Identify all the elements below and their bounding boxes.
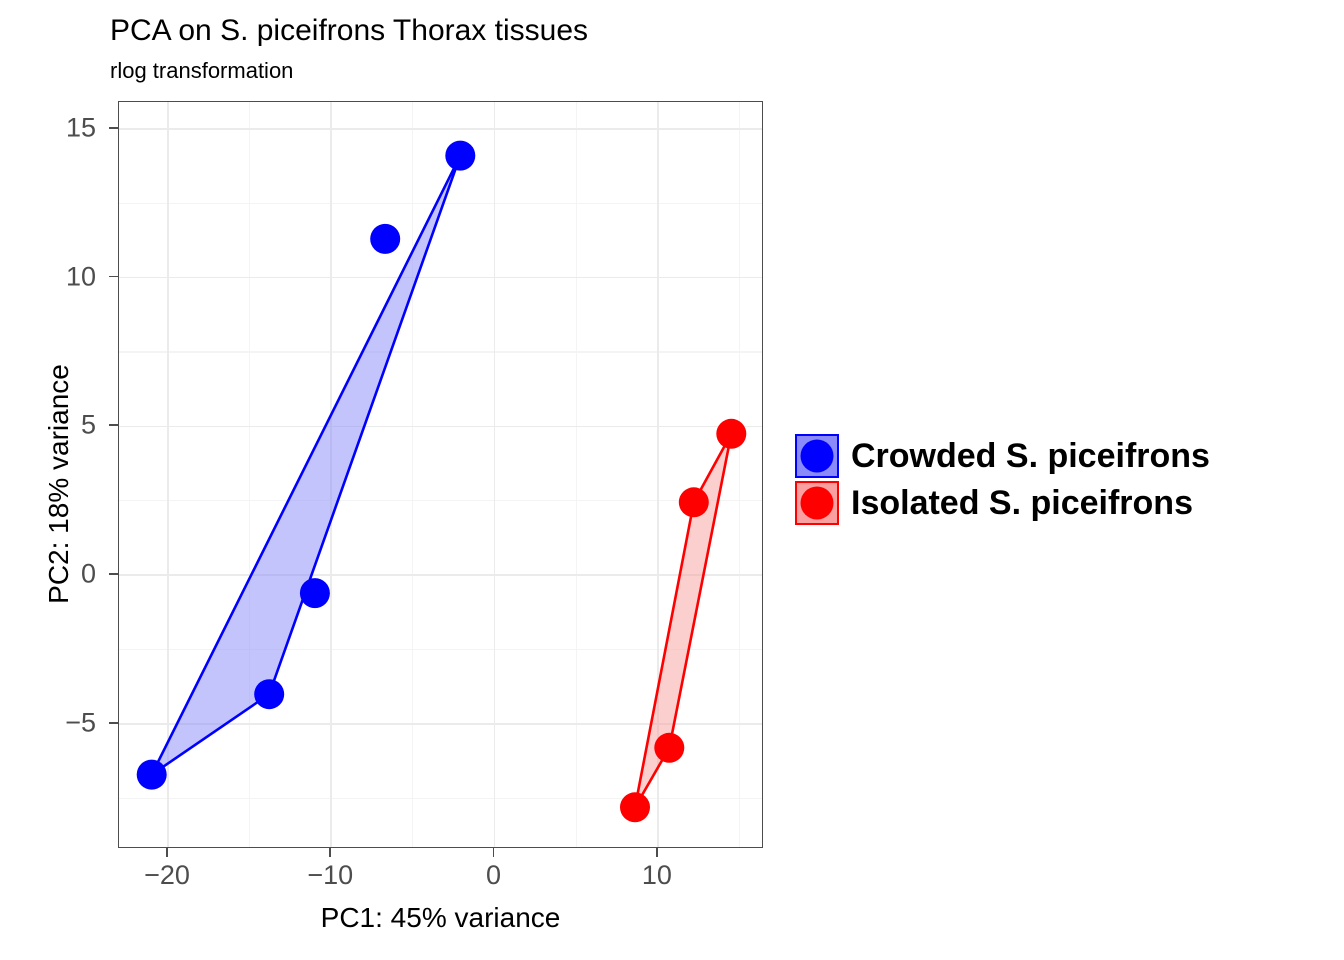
x-axis-tick-label: 10	[642, 860, 672, 891]
plot-panel	[118, 101, 763, 848]
data-point[interactable]	[254, 679, 284, 709]
x-axis-tick-label: −20	[144, 860, 190, 891]
data-point[interactable]	[716, 419, 746, 449]
legend-item[interactable]: Crowded S. piceifrons	[795, 432, 1210, 479]
data-point[interactable]	[445, 141, 475, 171]
x-axis-tick	[656, 848, 658, 857]
legend: Crowded S. piceifronsIsolated S. piceifr…	[795, 432, 1210, 526]
legend-key-swatch	[795, 481, 839, 525]
data-point[interactable]	[300, 578, 330, 608]
hull-polygon	[152, 156, 461, 775]
y-axis-tick	[109, 573, 118, 575]
chart-root: PCA on S. piceifrons Thorax tissues rlog…	[0, 0, 1344, 960]
x-axis-tick-label: 0	[486, 860, 501, 891]
y-axis-tick-label: −5	[0, 708, 96, 739]
legend-item-label: Crowded S. piceifrons	[851, 439, 1210, 473]
legend-key-swatch	[795, 434, 839, 478]
data-point[interactable]	[137, 760, 167, 790]
y-axis-tick	[109, 424, 118, 426]
y-axis-tick	[109, 127, 118, 129]
chart-title: PCA on S. piceifrons Thorax tissues	[110, 14, 588, 48]
legend-key-dot-icon	[801, 439, 834, 472]
data-point[interactable]	[679, 487, 709, 517]
x-axis-tick	[329, 848, 331, 857]
y-axis-tick-label: 5	[0, 410, 96, 441]
data-point[interactable]	[620, 792, 650, 822]
y-axis-tick-label: 10	[0, 261, 96, 292]
y-axis-tick-label: 15	[0, 112, 96, 143]
chart-subtitle: rlog transformation	[110, 58, 293, 84]
legend-item[interactable]: Isolated S. piceifrons	[795, 479, 1210, 526]
legend-item-label: Isolated S. piceifrons	[851, 486, 1193, 520]
y-axis-tick-label: 0	[0, 559, 96, 590]
legend-key-dot-icon	[801, 486, 834, 519]
x-axis-tick	[493, 848, 495, 857]
x-axis-label: PC1: 45% variance	[118, 902, 763, 934]
y-axis-tick	[109, 722, 118, 724]
data-point[interactable]	[370, 224, 400, 254]
x-axis-tick	[166, 848, 168, 857]
data-point[interactable]	[654, 733, 684, 763]
data-layer	[119, 102, 763, 848]
x-axis-tick-label: −10	[307, 860, 353, 891]
y-axis-label: PC2: 18% variance	[43, 249, 75, 719]
y-axis-tick	[109, 276, 118, 278]
